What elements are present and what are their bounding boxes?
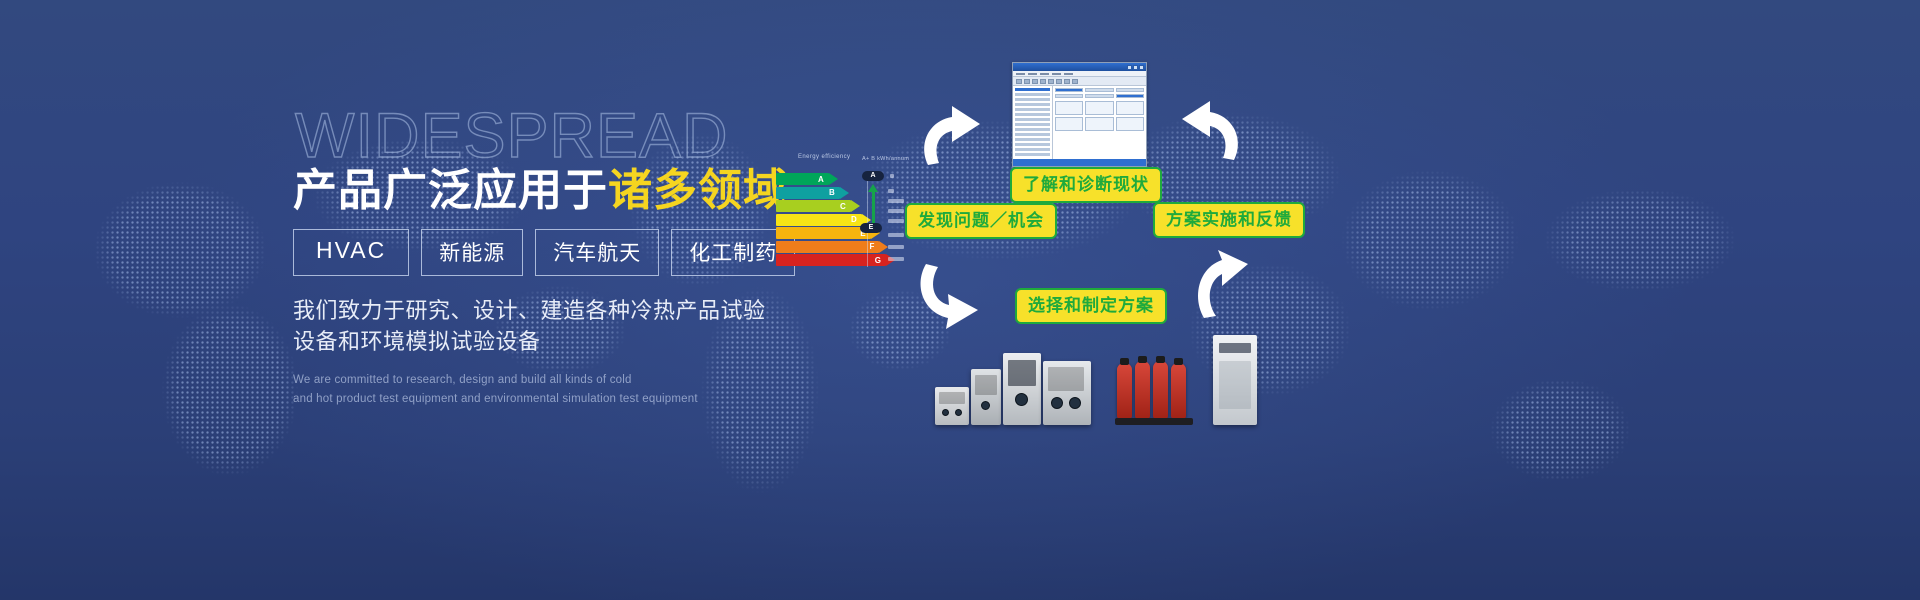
headline-main-text: 产品广泛应用于 [293,166,608,215]
energy-scale-pill-a: A [862,171,884,181]
energy-bar: C [776,200,851,212]
window-content-panel [1053,86,1146,167]
energy-scale-tick [888,233,904,237]
callout-select-plan[interactable]: 选择和制定方案 [1015,288,1167,324]
process-cycle-diagram: Energy efficiency A B C D E F G A+ B kWh… [760,0,1920,600]
energy-scale-tick [888,257,904,261]
window-minimize-icon[interactable] [1127,65,1132,70]
energy-scale-header: A+ B kWh/annum [862,156,909,162]
product-cabinet-medium [971,369,1001,425]
energy-scale-pill-e: E [860,223,882,233]
chip-hvac[interactable]: HVAC [293,229,409,276]
product-cabinet-wide [1043,361,1091,425]
hero-description-line-2: 设备和环境模拟试验设备 [293,327,763,357]
energy-label-title: Energy efficiency [798,154,850,160]
window-sidebar-panel[interactable] [1013,86,1053,167]
arrow-bottom-left-icon [912,258,984,330]
hero-description-line-1: 我们致力于研究、设计、建造各种冷热产品试验 [293,296,763,326]
promo-banner: WIDESPREAD 产品广泛应用于诸多领域 HVAC 新能源 汽车航天 化工制… [0,0,1920,600]
window-content-row [1055,94,1144,98]
product-cabinet-small [935,387,969,425]
window-status-bar [1013,159,1146,166]
energy-scale-tick [888,245,904,249]
callout-implement-feedback[interactable]: 方案实施和反馈 [1153,202,1305,238]
window-title-bar [1013,63,1146,71]
energy-bar-grade: B [829,188,835,197]
energy-scale-tick [888,189,894,193]
energy-bar: A [776,173,829,185]
arrow-top-left-icon [912,105,984,171]
window-body [1013,86,1146,167]
hero-description-en-line-2: and hot product test equipment and envir… [293,390,763,409]
window-content-grid [1055,101,1144,131]
window-close-icon[interactable] [1139,65,1144,70]
window-content-row [1055,88,1144,92]
category-chip-list: HVAC 新能源 汽车航天 化工制药 [293,229,763,276]
hero-description-english: We are committed to research, design and… [293,371,763,409]
hero-text-block: WIDESPREAD 产品广泛应用于诸多领域 HVAC 新能源 汽车航天 化工制… [293,105,763,409]
chip-new-energy[interactable]: 新能源 [421,229,523,276]
arrow-bottom-right-icon [1178,250,1250,322]
hero-description-en-line-1: We are committed to research, design and… [293,371,763,390]
product-test-chamber [1213,335,1257,425]
product-red-cylinder-rack [1115,353,1193,425]
energy-bar: B [776,187,840,199]
decorative-outline-word: WIDESPREAD [295,105,763,168]
product-equipment-photos [935,330,1245,425]
window-maximize-icon[interactable] [1133,65,1138,70]
energy-bar: D [776,214,862,226]
diagnostic-software-window [1012,62,1147,167]
chip-automotive-aerospace[interactable]: 汽车航天 [535,229,659,276]
window-toolbar[interactable] [1013,77,1146,86]
hero-description: 我们致力于研究、设计、建造各种冷热产品试验 设备和环境模拟试验设备 [293,296,763,357]
arrow-top-right-icon [1178,100,1250,166]
energy-bar: E [776,227,871,239]
callout-discover-problems[interactable]: 发现问题／机会 [905,203,1057,239]
energy-scale-tick [888,209,904,213]
energy-scale-tick [888,199,904,203]
energy-scale-tick [888,219,904,223]
energy-bar-grade: C [840,202,846,211]
energy-scale-tick [890,174,894,178]
callout-diagnose-status[interactable]: 了解和诊断现状 [1010,167,1162,203]
energy-bar-grade: D [851,215,857,224]
energy-bar-grade: A [818,175,824,184]
product-cabinet-tall [1003,353,1041,425]
page-title: 产品广泛应用于诸多领域 [293,166,763,215]
